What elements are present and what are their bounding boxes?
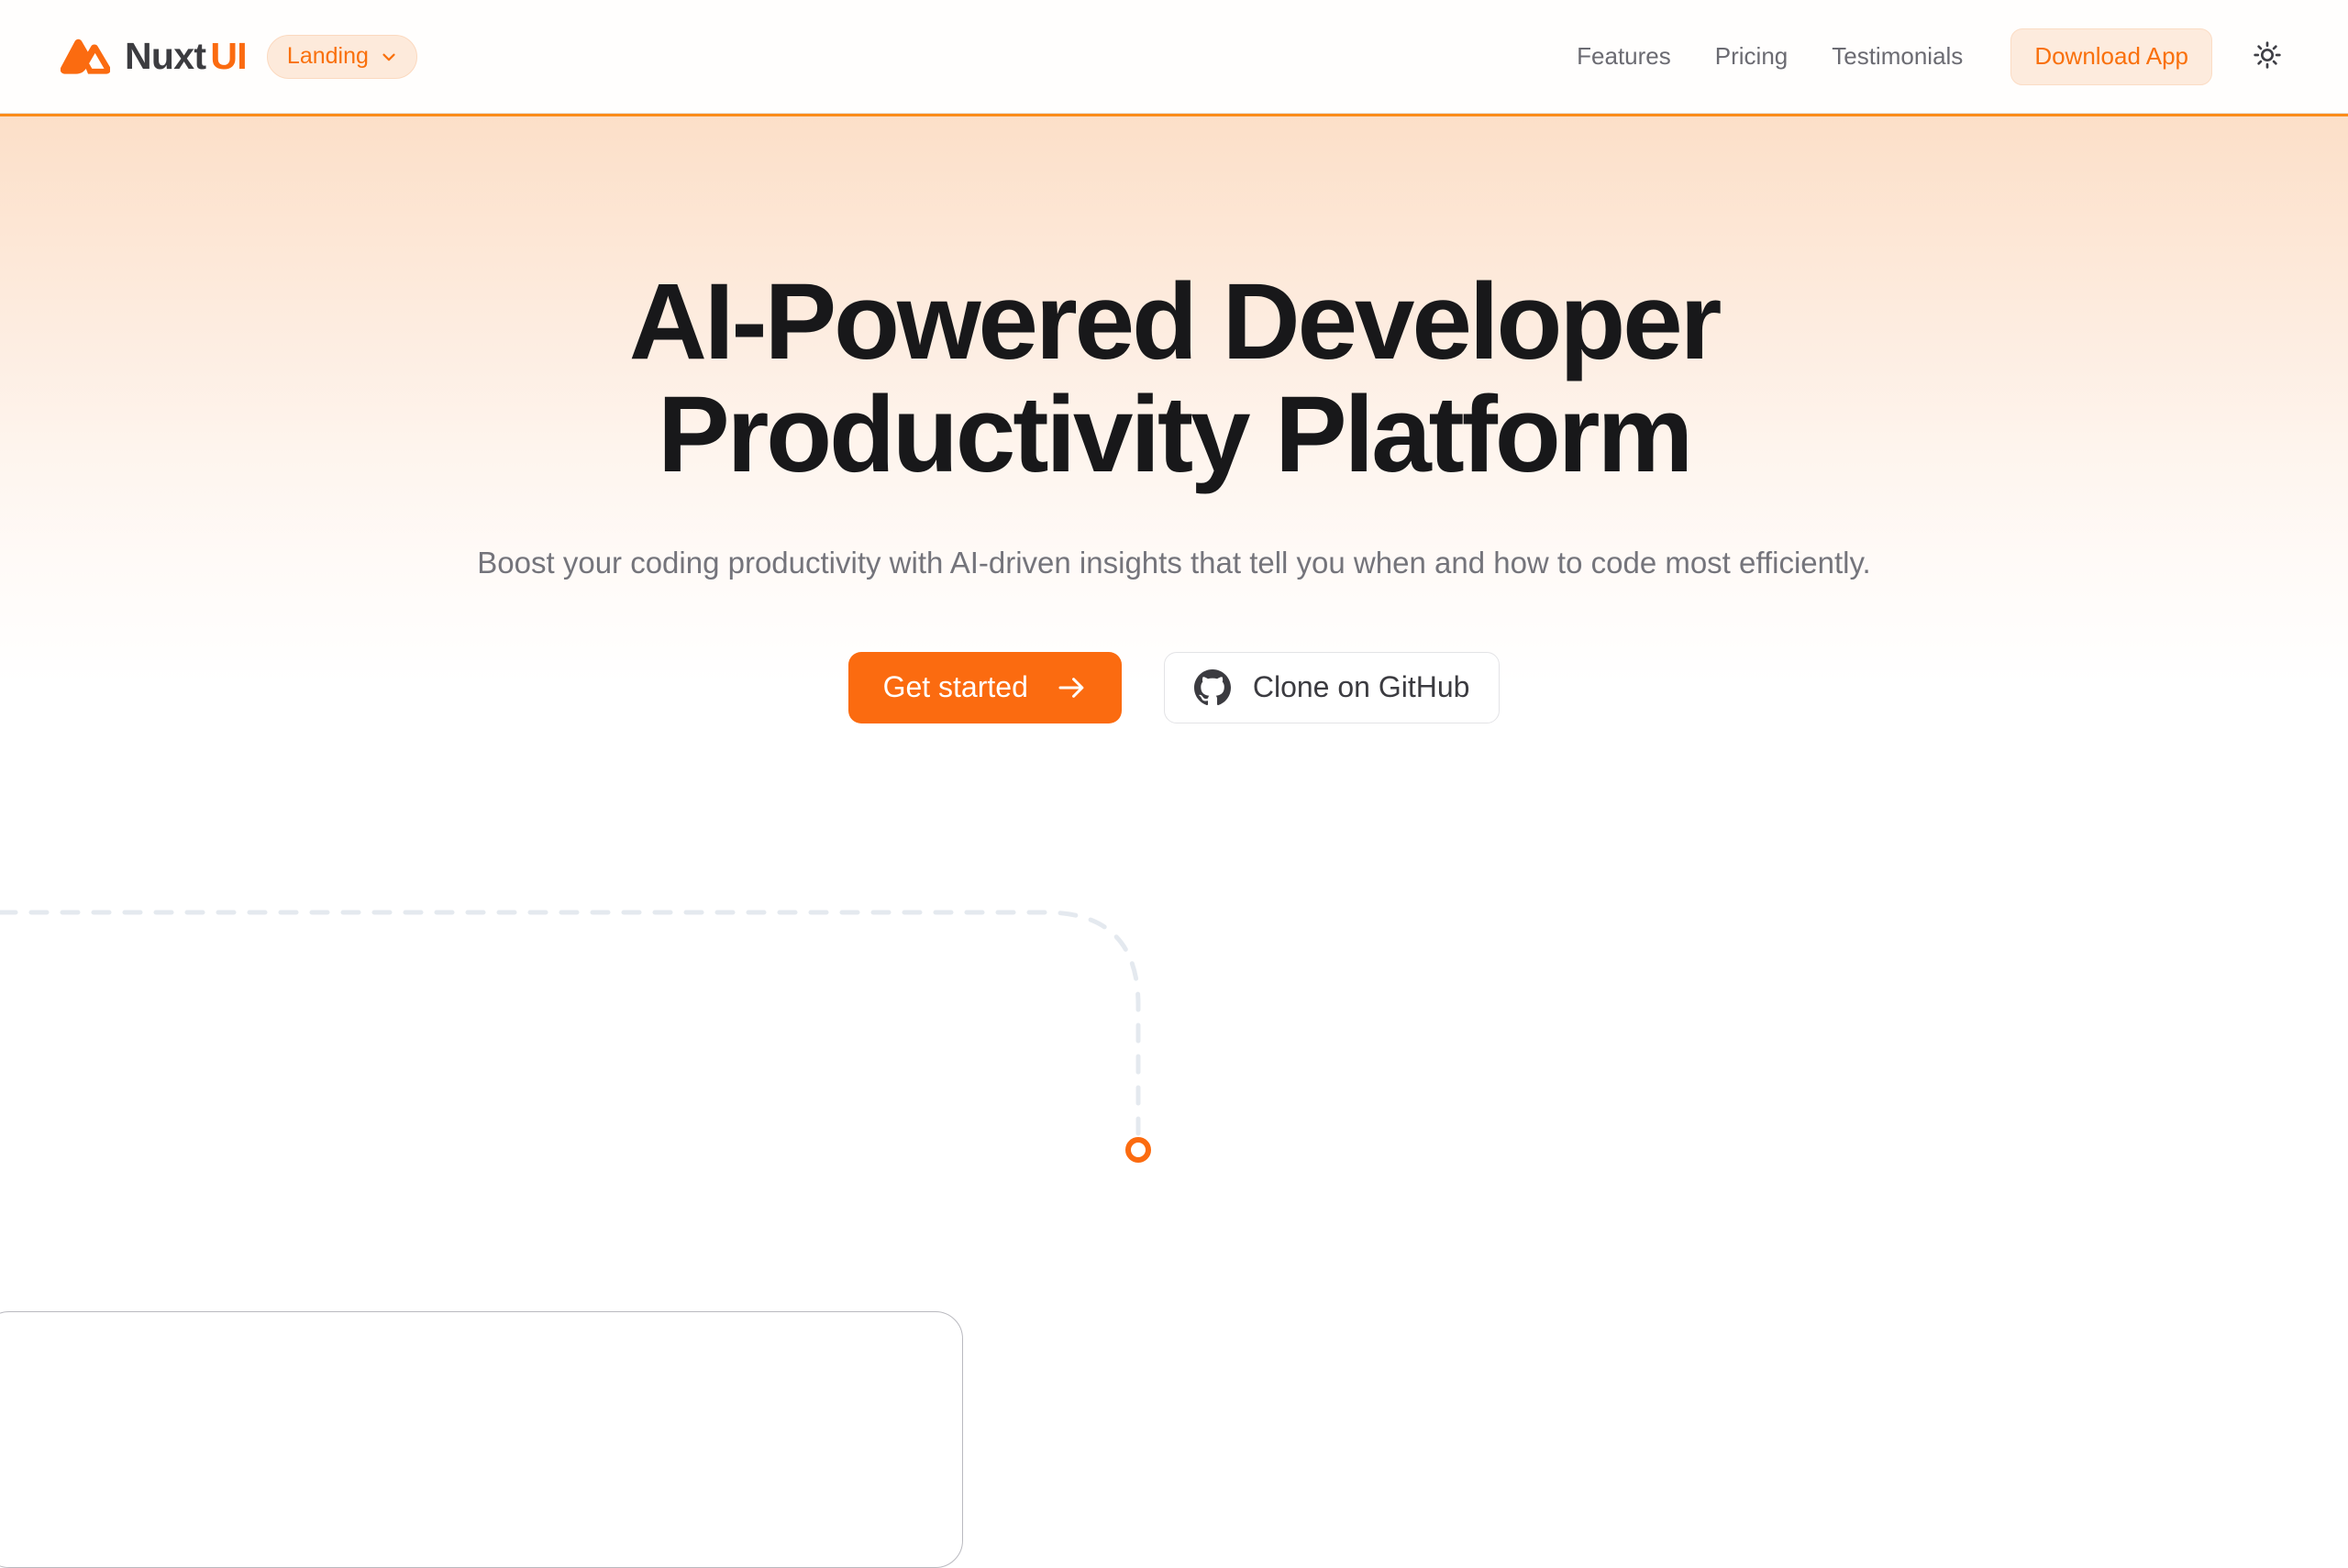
arrow-right-icon xyxy=(1056,672,1087,703)
nav-link-pricing[interactable]: Pricing xyxy=(1693,42,1810,71)
nuxt-mountain-logo-icon xyxy=(61,39,110,75)
template-selector-label: Landing xyxy=(287,43,369,70)
brand-home-link[interactable]: NuxtUI xyxy=(61,38,247,75)
hero-subtitle: Boost your coding productivity with AI-d… xyxy=(234,540,2114,586)
hero-cta-group: Get started Clone on GitHub xyxy=(0,652,2348,723)
header-left-group: NuxtUI Landing xyxy=(61,35,417,79)
brand-name-primary: Nuxt xyxy=(125,35,205,77)
download-app-button[interactable]: Download App xyxy=(2010,28,2212,85)
site-header: NuxtUI Landing Features Pricing Testimon… xyxy=(0,0,2348,114)
brand-name-accent: UI xyxy=(210,35,247,77)
decorative-connector xyxy=(0,862,2348,1229)
theme-toggle-button[interactable] xyxy=(2243,33,2291,81)
sun-icon xyxy=(2252,39,2283,73)
clone-on-github-button[interactable]: Clone on GitHub xyxy=(1164,652,1501,723)
nav-link-features[interactable]: Features xyxy=(1577,42,1693,71)
landing-page: { "brand": { "logo_icon": "nuxt-mountain… xyxy=(0,0,2348,1320)
clone-on-github-label: Clone on GitHub xyxy=(1253,670,1470,704)
github-icon xyxy=(1194,669,1231,706)
get-started-button[interactable]: Get started xyxy=(848,652,1122,723)
hero-section: AI-Powered Developer Productivity Platfo… xyxy=(0,114,2348,723)
dashed-path-line xyxy=(0,912,1138,1133)
chevron-down-icon xyxy=(379,47,399,67)
circle-node-marker-icon xyxy=(1128,1140,1148,1160)
primary-navigation: Features Pricing Testimonials Download A… xyxy=(1577,28,2291,85)
template-selector-badge[interactable]: Landing xyxy=(267,35,417,79)
next-section-card-edge xyxy=(0,1311,963,1568)
nav-link-testimonials[interactable]: Testimonials xyxy=(1810,42,1985,71)
get-started-label: Get started xyxy=(883,670,1028,704)
page-title: AI-Powered Developer Productivity Platfo… xyxy=(431,266,1917,491)
brand-wordmark: NuxtUI xyxy=(125,38,247,75)
